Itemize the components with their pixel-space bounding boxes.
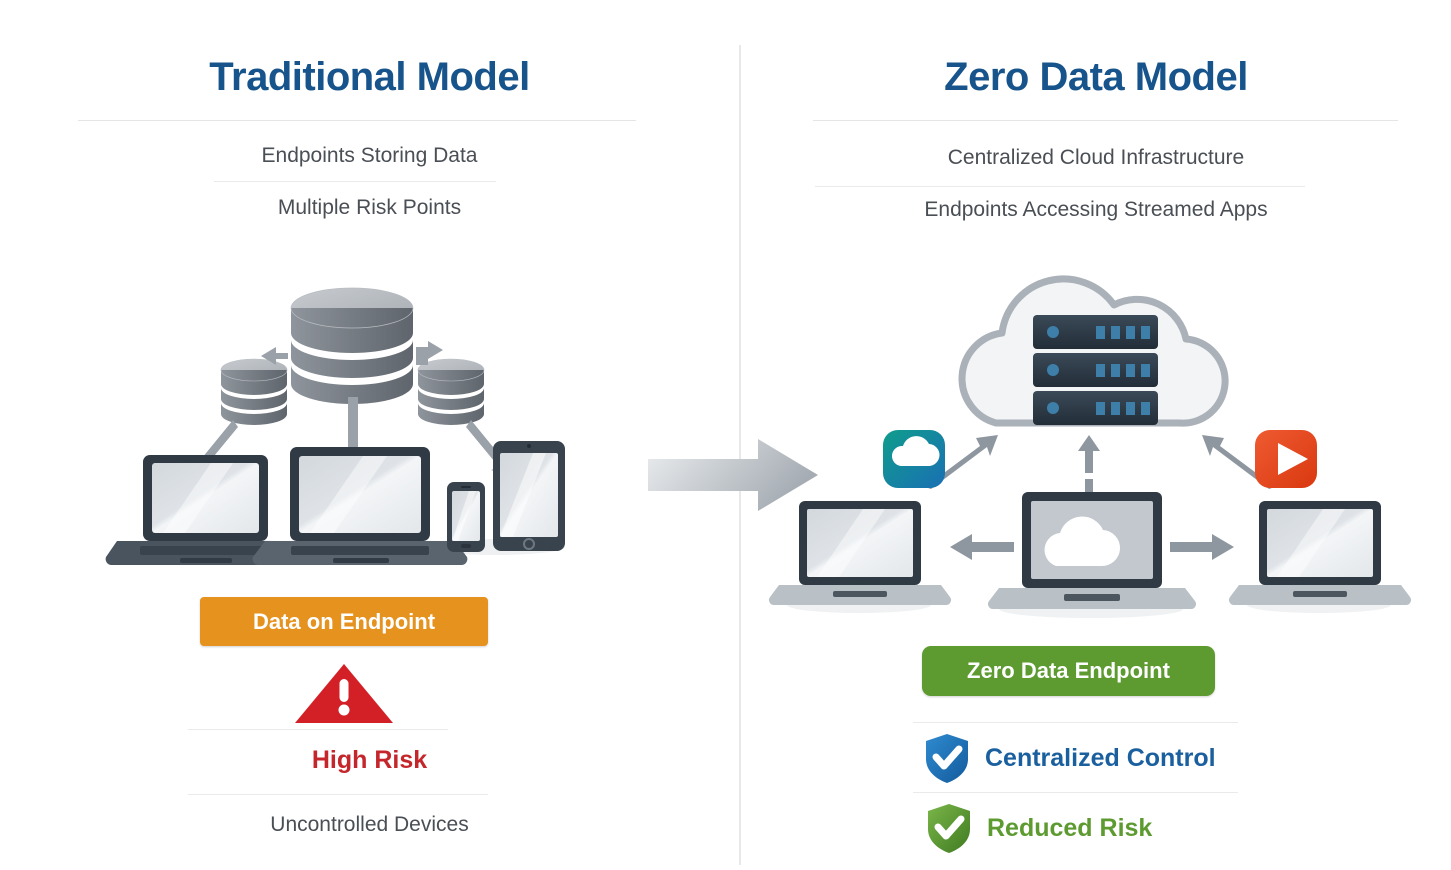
laptop-right — [1229, 501, 1411, 605]
laptop-left — [769, 501, 951, 605]
laptop-center — [253, 447, 468, 565]
cloud-app-icon — [883, 430, 945, 488]
shield-check-blue-icon — [923, 732, 971, 784]
subtitle-endpoints-accessing-streamed-apps: Endpoints Accessing Streamed Apps — [741, 198, 1451, 222]
infographic-canvas: Traditional Model Endpoints Storing Data… — [0, 0, 1451, 870]
database-cylinder-left — [221, 359, 287, 425]
feature-centralized-control[interactable]: Centralized Control — [923, 732, 1216, 784]
database-cylinder-right — [418, 359, 484, 425]
feature-rule-top — [913, 722, 1238, 723]
server-rack — [1033, 315, 1158, 425]
smartphone — [447, 482, 485, 552]
subtitle-endpoints-storing-data: Endpoints Storing Data — [0, 144, 739, 168]
subtitle-rule-left — [214, 181, 496, 182]
feature-rule-bottom — [913, 792, 1238, 793]
data-on-endpoint-badge[interactable]: Data on Endpoint — [200, 597, 488, 646]
zero-data-model-panel: Zero Data Model Centralized Cloud Infras… — [741, 0, 1451, 870]
page-title-right: Zero Data Model — [741, 55, 1451, 100]
database-cylinder-center — [291, 288, 413, 404]
zero-data-art — [771, 275, 1411, 615]
rack-inbound-arrows — [925, 435, 1275, 489]
zero-data-endpoint-badge[interactable]: Zero Data Endpoint — [922, 646, 1215, 696]
feature-label-centralized-control: Centralized Control — [985, 744, 1216, 773]
page-title-left: Traditional Model — [0, 55, 739, 100]
title-rule-right — [813, 120, 1398, 121]
shield-check-green-icon — [925, 802, 973, 854]
media-play-app-icon — [1255, 430, 1317, 488]
subtitle-rule-right — [815, 186, 1305, 187]
traditional-model-panel: Traditional Model Endpoints Storing Data… — [0, 0, 739, 870]
subtitle-multiple-risk-points: Multiple Risk Points — [0, 196, 739, 220]
feature-label-reduced-risk: Reduced Risk — [987, 814, 1152, 843]
risk-rule-top — [188, 729, 448, 730]
traditional-art — [95, 275, 635, 575]
title-rule-left — [78, 120, 636, 121]
feature-reduced-risk[interactable]: Reduced Risk — [925, 802, 1152, 854]
laptop-center-cloud — [988, 492, 1196, 609]
warning-triangle-icon — [294, 663, 394, 725]
tablet — [493, 441, 565, 551]
risk-rule-bottom — [188, 794, 488, 795]
subtitle-centralized-cloud-infrastructure: Centralized Cloud Infrastructure — [741, 146, 1451, 170]
uncontrolled-devices-label: Uncontrolled Devices — [0, 813, 739, 837]
high-risk-label: High Risk — [0, 746, 739, 775]
